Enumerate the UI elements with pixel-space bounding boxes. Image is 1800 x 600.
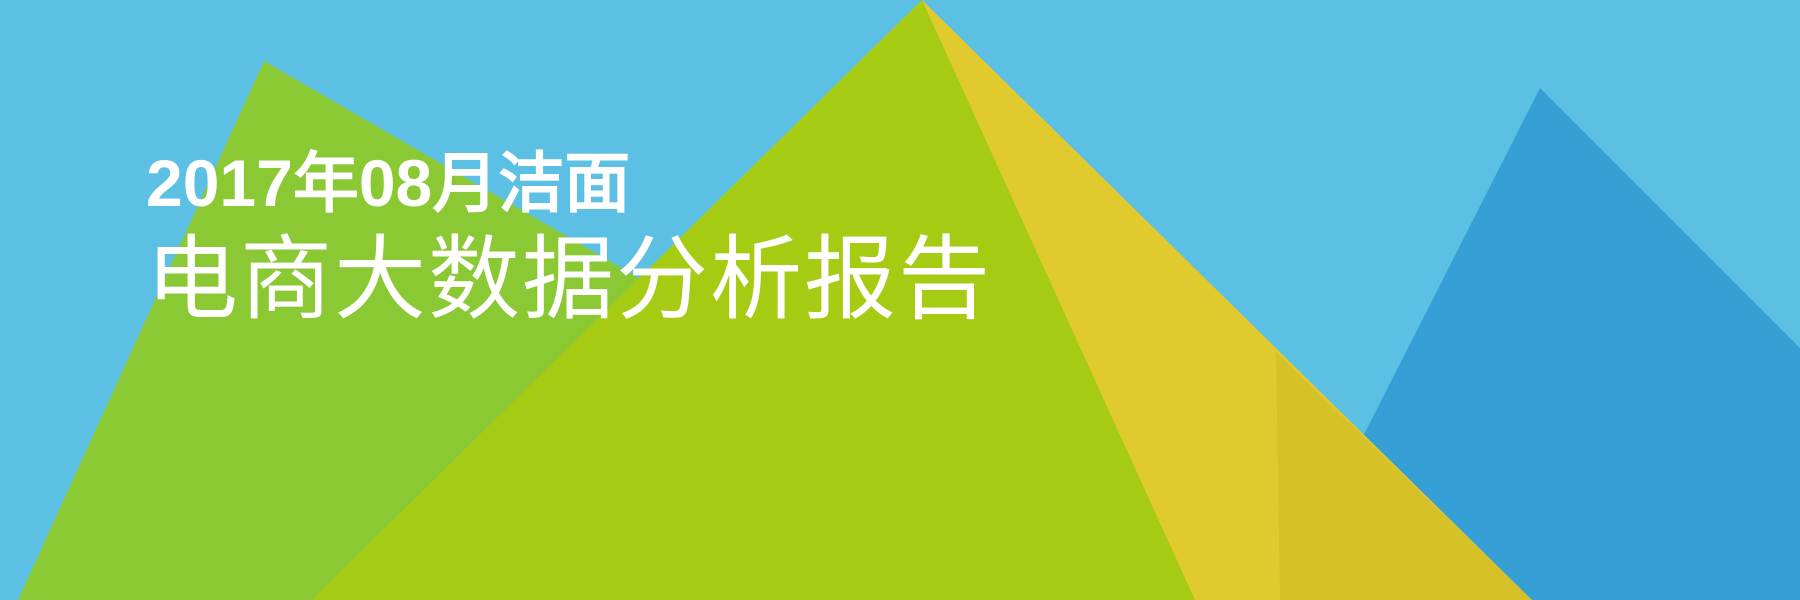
- report-period-and-category: 2017年08月洁面: [146, 150, 992, 216]
- report-main-title: 电商大数据分析报告: [146, 234, 992, 326]
- cover-title-block: 2017年08月洁面 电商大数据分析报告: [146, 150, 992, 326]
- report-cover-banner: 2017年08月洁面 电商大数据分析报告: [0, 0, 1800, 600]
